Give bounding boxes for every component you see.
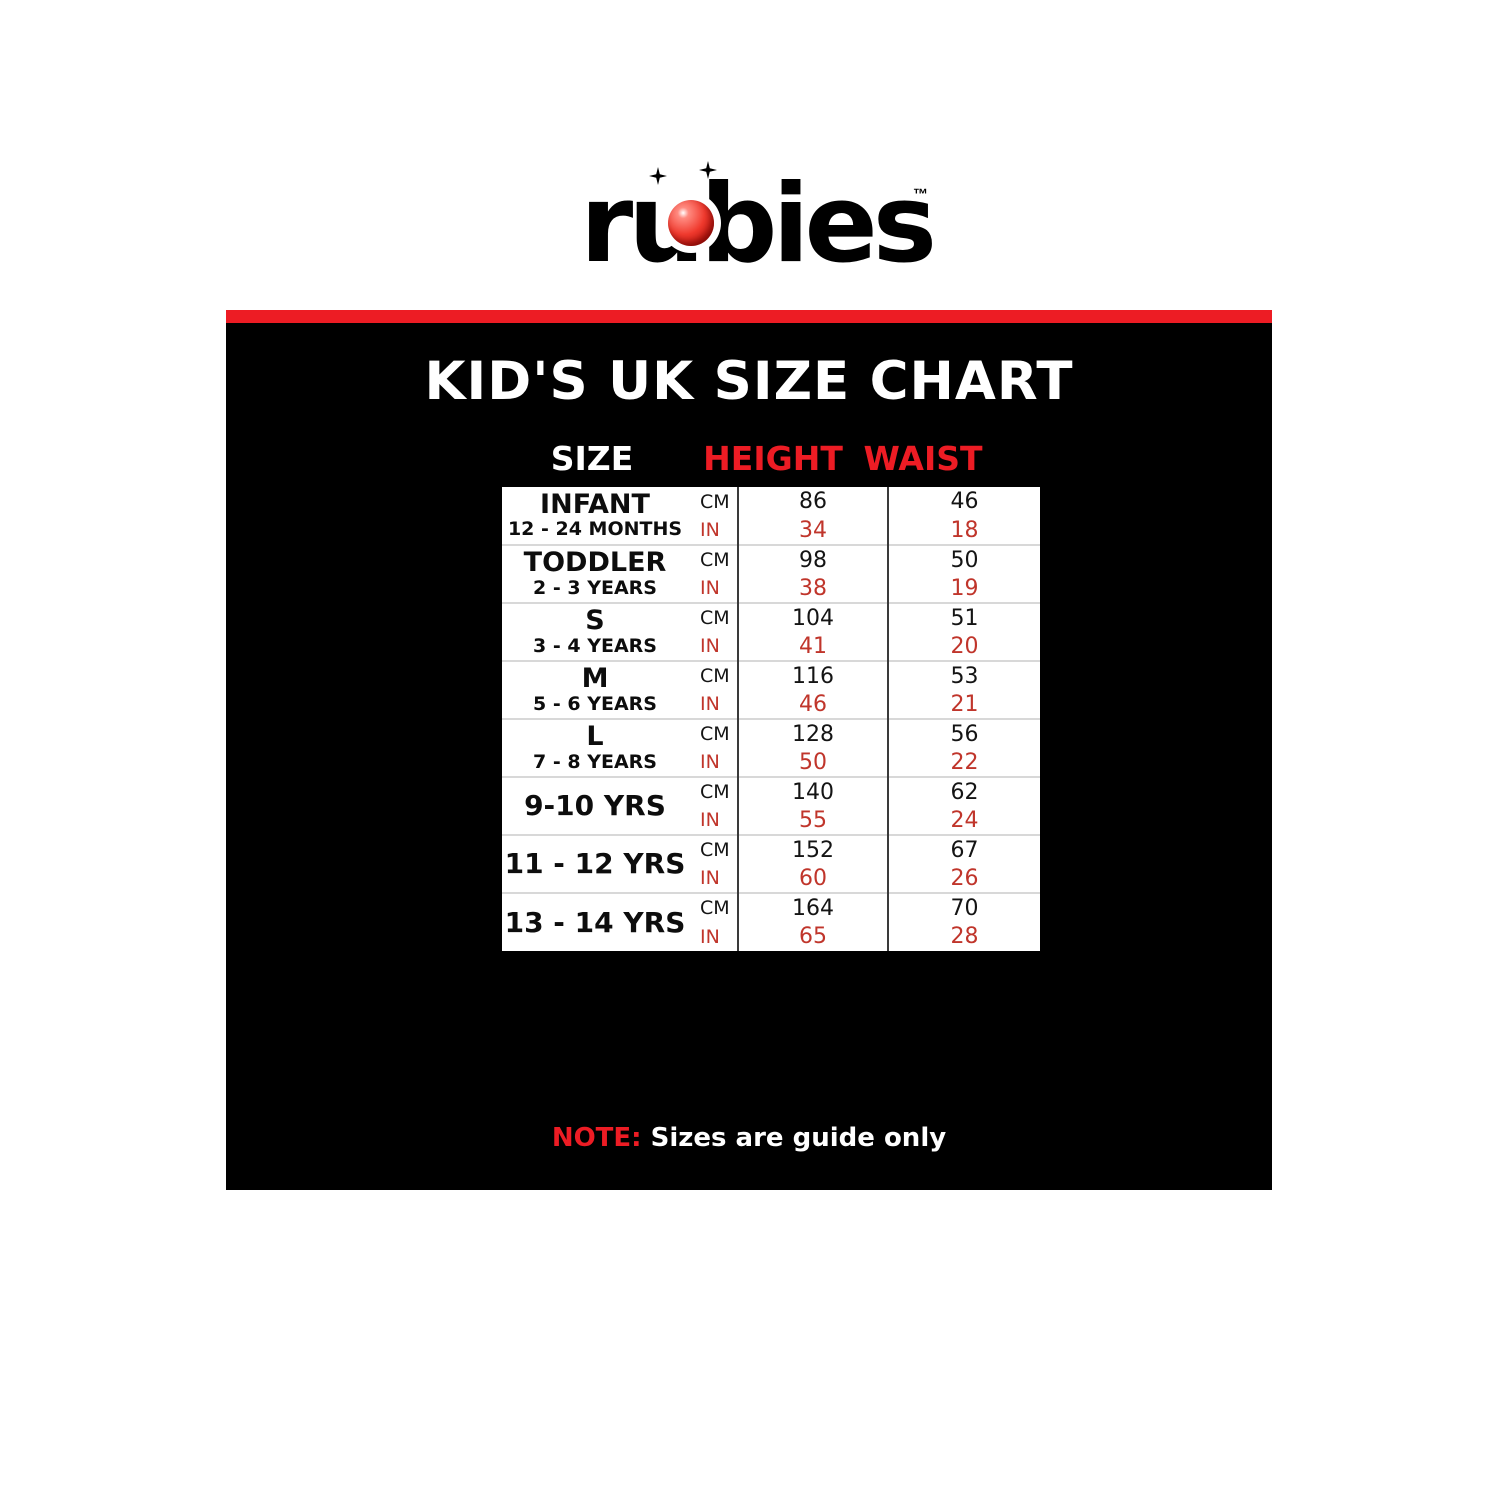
note-text: Sizes are guide only	[642, 1123, 947, 1153]
height-cm-value: 152	[738, 835, 888, 864]
height-cm-value: 140	[738, 777, 888, 806]
size-chart-table: INFANT 12 - 24 MONTHS CM 86 46 IN 34 18 …	[502, 487, 1040, 951]
column-header-size: SIZE	[532, 439, 652, 479]
unit-cm: CM	[694, 835, 738, 864]
unit-cm: CM	[694, 777, 738, 806]
logo-wordmark: rubies	[580, 160, 920, 290]
height-in-value: 34	[738, 516, 888, 545]
row-size-label: INFANT 12 - 24 MONTHS	[502, 487, 694, 545]
size-name: 9-10 YRS	[502, 791, 688, 820]
waist-cm-value: 51	[888, 603, 1040, 632]
size-name: S	[502, 607, 688, 635]
row-size-label: 11 - 12 YRS	[502, 835, 694, 893]
waist-cm-value: 67	[888, 835, 1040, 864]
row-size-label: TODDLER 2 - 3 YEARS	[502, 545, 694, 603]
size-name: 13 - 14 YRS	[502, 908, 688, 937]
table-row: TODDLER 2 - 3 YEARS CM 98 50	[502, 545, 1040, 574]
logo-wrap: rubies ™	[580, 160, 920, 290]
waist-in-value: 20	[888, 632, 1040, 661]
height-cm-value: 98	[738, 545, 888, 574]
waist-in-value: 28	[888, 922, 1040, 951]
height-cm-value: 86	[738, 487, 888, 516]
unit-cm: CM	[694, 661, 738, 690]
height-in-value: 38	[738, 574, 888, 603]
table-row: 11 - 12 YRS CM 152 67	[502, 835, 1040, 864]
waist-in-value: 21	[888, 690, 1040, 719]
size-sub: 12 - 24 MONTHS	[502, 519, 688, 540]
table-row: S 3 - 4 YEARS CM 104 51	[502, 603, 1040, 632]
row-size-label: L 7 - 8 YEARS	[502, 719, 694, 777]
unit-cm: CM	[694, 603, 738, 632]
table-row: M 5 - 6 YEARS CM 116 53	[502, 661, 1040, 690]
size-chart-panel: KID'S UK SIZE CHART SIZE HEIGHT WAIST IN…	[226, 323, 1272, 1190]
height-cm-value: 128	[738, 719, 888, 748]
row-size-label: M 5 - 6 YEARS	[502, 661, 694, 719]
unit-in: IN	[694, 922, 738, 951]
red-sphere-icon	[668, 200, 714, 246]
table-row: INFANT 12 - 24 MONTHS CM 86 46	[502, 487, 1040, 516]
size-name: INFANT	[502, 491, 688, 519]
unit-in: IN	[694, 806, 738, 835]
table-row: L 7 - 8 YEARS CM 128 56	[502, 719, 1040, 748]
waist-cm-value: 56	[888, 719, 1040, 748]
row-size-label: S 3 - 4 YEARS	[502, 603, 694, 661]
unit-in: IN	[694, 516, 738, 545]
waist-cm-value: 50	[888, 545, 1040, 574]
height-in-value: 65	[738, 922, 888, 951]
size-name: M	[502, 665, 688, 693]
size-sub: 3 - 4 YEARS	[502, 636, 688, 657]
note-line: NOTE: Sizes are guide only	[226, 1123, 1272, 1153]
height-cm-value: 116	[738, 661, 888, 690]
trademark-symbol: ™	[913, 186, 928, 203]
unit-in: IN	[694, 574, 738, 603]
row-size-label: 13 - 14 YRS	[502, 893, 694, 951]
height-in-value: 46	[738, 690, 888, 719]
height-in-value: 41	[738, 632, 888, 661]
size-sub: 2 - 3 YEARS	[502, 578, 688, 599]
waist-in-value: 18	[888, 516, 1040, 545]
red-accent-bar	[226, 310, 1272, 323]
height-cm-value: 164	[738, 893, 888, 922]
unit-cm: CM	[694, 487, 738, 516]
row-size-label: 9-10 YRS	[502, 777, 694, 835]
unit-in: IN	[694, 864, 738, 893]
note-label: NOTE:	[552, 1123, 642, 1153]
height-in-value: 55	[738, 806, 888, 835]
size-name: 11 - 12 YRS	[502, 849, 688, 878]
unit-cm: CM	[694, 893, 738, 922]
waist-in-value: 19	[888, 574, 1040, 603]
unit-in: IN	[694, 632, 738, 661]
brand-logo: rubies ™	[0, 160, 1500, 290]
page-title: KID'S UK SIZE CHART	[226, 351, 1272, 412]
table-row: 13 - 14 YRS CM 164 70	[502, 893, 1040, 922]
waist-in-value: 26	[888, 864, 1040, 893]
waist-cm-value: 53	[888, 661, 1040, 690]
unit-cm: CM	[694, 545, 738, 574]
height-in-value: 60	[738, 864, 888, 893]
size-name: TODDLER	[502, 549, 688, 577]
waist-in-value: 24	[888, 806, 1040, 835]
size-sub: 5 - 6 YEARS	[502, 694, 688, 715]
table-row: 9-10 YRS CM 140 62	[502, 777, 1040, 806]
unit-in: IN	[694, 748, 738, 777]
size-sub: 7 - 8 YEARS	[502, 752, 688, 773]
waist-cm-value: 46	[888, 487, 1040, 516]
waist-cm-value: 62	[888, 777, 1040, 806]
unit-cm: CM	[694, 719, 738, 748]
height-cm-value: 104	[738, 603, 888, 632]
column-headers: SIZE HEIGHT WAIST	[502, 439, 996, 483]
height-in-value: 50	[738, 748, 888, 777]
column-header-height: HEIGHT	[698, 439, 848, 479]
unit-in: IN	[694, 690, 738, 719]
column-header-waist: WAIST	[848, 439, 998, 479]
size-name: L	[502, 723, 688, 751]
waist-cm-value: 70	[888, 893, 1040, 922]
waist-in-value: 22	[888, 748, 1040, 777]
